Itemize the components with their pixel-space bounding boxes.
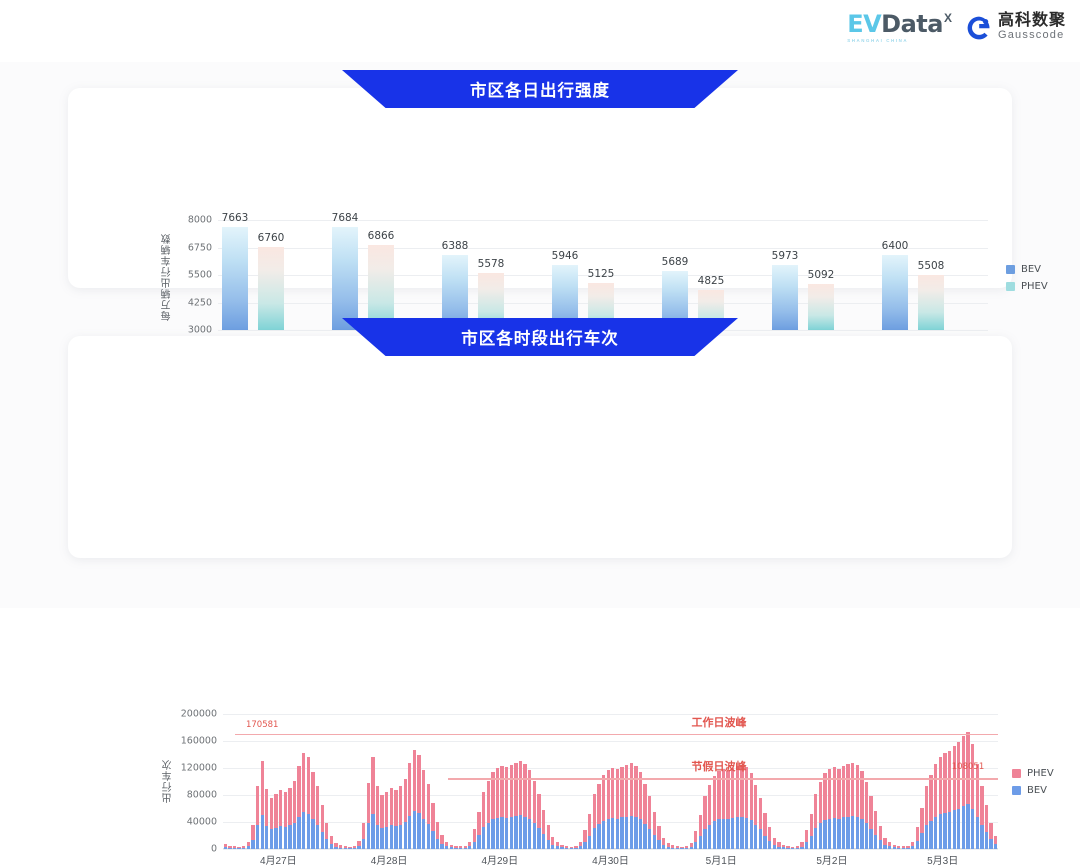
chart2-hour-bar [920,808,923,849]
chart2-hour-bar [754,785,757,849]
chart2-hour-bar [311,772,314,849]
chart2-hour-bar [316,786,319,849]
chart2-bar-bev [888,846,891,849]
chart2-hour-bar [422,770,425,849]
gausscode-mark-icon [966,15,992,41]
chart2-bar-phev [657,826,660,840]
chart2-bar-bev [325,839,328,849]
chart2-hour-bar [496,768,499,849]
chart2-hour-bar [902,846,905,849]
chart2-bar-bev [980,825,983,849]
chart1-value-label: 5578 [478,259,505,270]
chart2-hour-bar [344,846,347,849]
chart2-point-label: 170581 [246,721,278,730]
chart2-bar-bev [394,826,397,849]
chart2-hour-bar [473,829,476,849]
chart2-bar-phev [542,810,545,834]
chart2-bar-bev [971,809,974,849]
chart2-legend: PHEVBEV [1012,768,1054,796]
chart2-bar-phev [699,815,702,836]
chart2-hour-bar [630,763,633,849]
chart1-y-axis-label: 每万辆出行车辆数 [160,222,175,332]
chart2-legend-label: PHEV [1027,768,1054,779]
chart2-bar-bev [459,848,462,849]
chart2-hour-bar [948,751,951,849]
chart2-bar-phev [547,825,550,840]
chart2-plot-area: 04000080000120000160000200000出行车次4月27日4月… [223,714,998,849]
chart2-bar-bev [962,806,965,849]
chart2-hour-bar [750,773,753,849]
chart2-bar-phev [279,790,282,826]
chart2-bar-phev [390,788,393,826]
chart2-bar-bev [777,847,780,849]
chart2-legend-item: PHEV [1012,768,1054,779]
chart2-bar-bev [851,816,854,849]
chart2-hour-bar [616,769,619,849]
chart2-hour-bar [939,757,942,849]
chart2-hour-bar [445,842,448,849]
chart2-bar-phev [976,764,979,817]
chart2-bar-phev [256,786,259,825]
chart2-bar-bev [413,811,416,849]
chart2-hour-bar [869,796,872,849]
chart2-legend-swatch [1012,786,1021,795]
chart2-bar-bev [759,829,762,849]
chart2-bar-phev [828,769,831,818]
chart2-bar-bev [879,840,882,849]
chart1-bar-bev [882,255,908,330]
chart2-bar-bev [842,817,845,849]
chart2-bar-bev [699,836,702,849]
chart2-bar-phev [819,782,822,823]
chart2-bar-bev [537,828,540,849]
chart2-bar-bev [311,819,314,849]
chart2-hour-bar [846,764,849,849]
chart2-hour-bar [851,763,854,849]
chart2-bar-phev [551,837,554,844]
chart2-bar-bev [464,848,467,849]
chart2-hour-bar [251,825,254,849]
chart2-y-tick: 0 [211,844,217,854]
chart2-hour-bar [357,841,360,849]
chart2-bar-bev [454,848,457,849]
chart2-bar-bev [556,846,559,849]
chart2-bar-bev [731,818,734,849]
chart1-legend-label: BEV [1021,264,1041,275]
chart2-bar-bev [662,845,665,849]
chart2-bar-phev [330,836,333,844]
chart2-bar-phev [307,757,310,814]
chart1-bar-phev [368,245,394,330]
chart2-bar-phev [325,823,328,839]
chart2-bar-bev [925,825,928,849]
chart2-hour-bar [796,846,799,849]
chart2-bar-bev [339,848,342,849]
chart2-bar-bev [385,827,388,849]
chart2-hour-bar [671,845,674,849]
chart2-bar-phev [745,767,748,818]
chart2-hour-bar [440,835,443,849]
chart2-hour-bar [265,789,268,849]
chart2-bar-bev [482,827,485,849]
chart2-bar-bev [810,836,813,849]
chart2-hour-bar [828,769,831,849]
evdata-subtitle: SHANGHAI CHINA [847,38,908,43]
chart2-bar-bev [948,812,951,849]
chart2-bar-bev [680,848,683,849]
chart2-bar-bev [579,846,582,849]
chart2-bar-bev [708,825,711,849]
chart2-bar-bev [487,823,490,849]
chart2-hour-bar [330,836,333,849]
chart2-hour-bar [547,825,550,849]
chart2-hour-bar [482,792,485,849]
chart2-bar-bev [242,848,245,849]
chart2-bar-phev [482,792,485,827]
evdata-superscript: X [944,11,952,25]
logo-group: EVData X SHANGHAI CHINA 高科数聚 Gausscode [847,12,1066,43]
chart2-bar-phev [408,763,411,816]
chart2-hour-bar [431,803,434,849]
chart1-bar-phev [258,247,284,330]
chart2-bar-phev [980,786,983,825]
chart2-hour-bar [699,815,702,849]
chart2-hour-bar [270,798,273,849]
chart2-bar-bev [547,840,550,849]
chart2-bar-bev [593,828,596,849]
chart2-bar-phev [883,838,886,845]
chart2-bar-bev [251,840,254,849]
chart2-hour-bar [468,842,471,849]
chart2-bar-bev [713,821,716,849]
chart2-hour-bar [380,795,383,849]
chart2-bar-bev [491,819,494,849]
chart2-hour-bar [708,785,711,849]
chart2-hour-bar [413,750,416,849]
chart2-hour-bar [602,775,605,849]
chart1-legend-swatch [1006,282,1015,291]
chart2-bar-bev [726,819,729,849]
chart2-bar-phev [265,789,268,826]
chart2-bar-bev [906,848,909,849]
chart2-bar-bev [796,848,799,849]
chart2-bar-bev [440,844,443,849]
chart2-bar-bev [519,815,522,849]
chart2-bar-bev [939,814,942,849]
chart2-bar-bev [473,842,476,849]
chart2-bar-bev [805,842,808,849]
chart2-bar-bev [819,823,822,849]
chart2-bar-phev [879,826,882,840]
chart2-hour-bar [533,781,536,849]
chart2-bar-bev [371,814,374,849]
chart2-bar-phev [593,794,596,828]
chart1-bar-group: 638855784月29日 [438,220,548,330]
chart2-bar-phev [422,770,425,819]
slide-page: EVData X SHANGHAI CHINA 高科数聚 Gausscode [0,0,1080,608]
chart2-bar-bev [639,819,642,849]
chart2-hour-bar [893,845,896,849]
chart2-hour-bar [611,768,614,849]
chart2-bar-bev [916,841,919,849]
chart2-hour-bar [883,838,886,849]
evdata-logo-text: EVData [847,12,943,36]
evdata-wordmark: EVData X [847,12,952,36]
chart2-hour-bar [888,842,891,849]
chart2-bar-bev [468,846,471,849]
chart2-bar-phev [703,796,706,829]
chart2-hour-bar [943,753,946,849]
chart2-hour-bar [560,845,563,849]
chart2-bar-phev [943,753,946,812]
chart2-hour-bar [976,764,979,849]
chart2-bar-phev [261,761,264,816]
chart2-bar-bev [427,824,430,849]
chart1-card: 30004250550067508000每万辆出行车辆数766367604月27… [68,88,1012,288]
chart2-bar-bev [920,833,923,849]
chart2-bar-bev [376,825,379,849]
chart2-bar-bev [307,814,310,849]
chart2-bar-bev [256,825,259,849]
chart2-bar-bev [574,848,577,849]
chart2-bar-phev [533,781,536,823]
chart2-hour-bar [261,761,264,849]
chart2-hour-bar [542,810,545,849]
chart2-bar-bev [828,819,831,849]
chart2-bar-phev [620,767,623,818]
chart2-hour-bar [934,764,937,849]
chart2-hour-bar [339,845,342,849]
chart2-hour-bar [662,838,665,849]
chart2-bar-bev [989,839,992,849]
chart2-hour-bar [464,846,467,849]
chart2-bar-bev [837,819,840,849]
chart2-bar-phev [293,781,296,823]
chart2-hour-bar [528,770,531,849]
chart2-bar-bev [671,848,674,849]
chart2-hour-bar [653,812,656,849]
chart2-bar-phev [662,838,665,845]
chart1-bar-bev [222,227,248,330]
chart2-bar-bev [768,841,771,849]
chart2-y-tick: 200000 [181,709,217,719]
chart2-bar-phev [971,744,974,809]
chart2-hour-bar [399,786,402,849]
chart2-bar-phev [519,761,522,815]
chart1-bar-group: 568948255月1日 [658,220,768,330]
chart2-hour-bar [879,826,882,849]
chart2-hour-bar [994,836,997,849]
chart2-bar-bev [505,818,508,849]
chart1-bar-group: 640055085月3日 [878,220,988,330]
chart2-bar-bev [408,816,411,849]
chart2-bar-phev [643,784,646,824]
chart2-hour-bar [782,845,785,849]
chart1-y-tick: 5500 [188,270,212,280]
chart2-bar-bev [422,819,425,849]
chart2-hour-bar [726,771,729,849]
chart2-bar-phev [837,769,840,819]
chart2-hour-bar [477,812,480,849]
chart2-bar-phev [270,798,273,830]
chart2-bar-bev [390,825,393,849]
chart2-hour-bar [371,757,374,849]
chart2-bar-phev [851,763,854,816]
chart2-bar-phev [648,796,651,828]
chart2-bar-bev [316,825,319,849]
chart2-hour-bar [786,846,789,849]
chart2-bar-bev [786,848,789,849]
chart2-bar-bev [380,828,383,849]
chart2-bar-bev [270,829,273,849]
gausscode-en-name: Gausscode [998,30,1066,42]
chart2-bar-phev [427,784,430,824]
chart2-bar-bev [302,812,305,849]
chart2-hour-bar [570,847,573,849]
chart2-hour-bar [925,786,928,849]
chart2-bar-phev [722,769,725,818]
chart1-bar-group: 768468664月28日 [328,220,438,330]
chart2-bar-phev [625,765,628,817]
chart2-bar-bev [321,832,324,849]
chart2-bar-bev [846,817,849,849]
chart2-bar-phev [274,794,277,828]
chart2-hour-bar [685,846,688,849]
chart2-hour-bar [597,784,600,849]
chart2-bar-bev [362,839,365,849]
chart2-hour-bar [233,846,236,849]
chart2-bar-phev [874,811,877,835]
chart2-bar-phev [380,795,383,828]
chart2-weekday-peak-label: 工作日波峰 [692,718,747,729]
chart1-title: 市区各日出行强度 [470,77,610,101]
chart2-hour-bar [237,847,240,849]
evdata-data-text: Data [881,10,943,38]
chart1-value-label: 7684 [332,213,359,224]
chart2-bar-phev [842,766,845,817]
chart2-hour-bar [385,792,388,849]
chart2-hour-bar [607,770,610,849]
chart2-bar-phev [583,830,586,841]
chart2-hour-bar [763,813,766,849]
chart2-bar-bev [551,845,554,849]
chart2-hour-bar [353,846,356,849]
chart2-bar-phev [731,768,734,818]
chart2-bar-phev [404,779,407,822]
chart2-bar-bev [685,848,688,849]
chart2-bar-phev [473,829,476,841]
chart2-bar-bev [643,824,646,849]
chart2-hour-bar [288,788,291,849]
chart2-bar-phev [989,823,992,839]
evdata-ev-text: EV [847,10,881,38]
chart2-bar-phev [856,765,859,817]
chart2-hour-bar [459,846,462,849]
chart1-value-label: 7663 [222,213,249,224]
chart2-hour-bar [427,784,430,849]
chart2-hour-bar [565,846,568,849]
chart1-value-label: 6760 [258,233,285,244]
chart2-bar-phev [948,751,951,812]
chart2-hour-bar [514,763,517,849]
chart2-hour-bar [247,842,250,849]
chart2-hour-bar [639,772,642,849]
chart2-hour-bar [348,847,351,849]
chart2-bar-bev [353,848,356,849]
chart2-legend-label: BEV [1027,785,1047,796]
chart2-bar-bev [823,820,826,849]
chart2-bar-bev [800,847,803,849]
chart2-bar-bev [348,848,351,849]
chart2-title: 市区各时段出行车次 [461,325,619,349]
chart2-bar-bev [265,826,268,849]
chart2-hour-bar [703,796,706,849]
chart2-hour-bar [667,843,670,849]
chart2-bar-bev [690,847,693,849]
chart2-hour-bar [953,746,956,849]
chart2-bar-bev [293,823,296,849]
chart2-bar-bev [528,819,531,849]
chart2-bar-bev [533,823,536,849]
chart2-bar-bev [500,817,503,849]
chart1-bar-phev [918,275,944,330]
chart2-holiday-peak-line [448,778,998,780]
chart2-hour-bar [279,790,282,849]
chart2-hour-bar [643,784,646,849]
chart2-hour-bar [759,798,762,849]
chart2-hour-bar [408,763,411,849]
chart2-hour-bar [916,827,919,849]
chart2-hour-bar [676,846,679,849]
chart2-bar-bev [865,823,868,849]
chart2-bar-bev [736,817,739,849]
chart2-hour-bar [325,823,328,849]
chart1-legend-swatch [1006,265,1015,274]
chart2-hour-bar [367,783,370,849]
chart2-bar-bev [976,817,979,849]
chart2-bar-bev [399,825,402,849]
chart2-bar-phev [925,786,928,825]
chart2-bar-bev [597,824,600,849]
chart2-hour-bar [680,847,683,849]
chart2-hour-bar [297,766,300,849]
chart2-holiday-peak-label: 节假日波峰 [692,762,747,773]
chart2-bar-phev [810,814,813,836]
chart2-hour-bar [579,842,582,849]
chart2-bar-bev [570,848,573,849]
chart1-title-banner: 市区各日出行强度 [342,70,738,108]
chart2-hour-bar [454,846,457,849]
chart2-hour-bar [906,846,909,849]
chart2-bar-phev [985,805,988,832]
chart2-hour-bar [417,755,420,850]
chart2-bar-bev [740,817,743,849]
chart1-value-label: 6400 [882,241,909,252]
chart2-bar-phev [385,792,388,827]
chart2-bar-phev [939,757,942,814]
chart2-hour-bar [376,786,379,849]
chart2-bar-phev [708,785,711,825]
chart2-bar-phev [869,796,872,829]
chart2-hour-bar [228,846,231,849]
chart2-bar-bev [477,835,480,849]
chart2-hour-bar [874,811,877,849]
chart2-bar-phev [302,753,305,812]
chart2-bar-bev [985,832,988,849]
chart2-bar-bev [514,816,517,849]
chart2-hour-bar [957,742,960,849]
chart2-bar-bev [893,847,896,849]
